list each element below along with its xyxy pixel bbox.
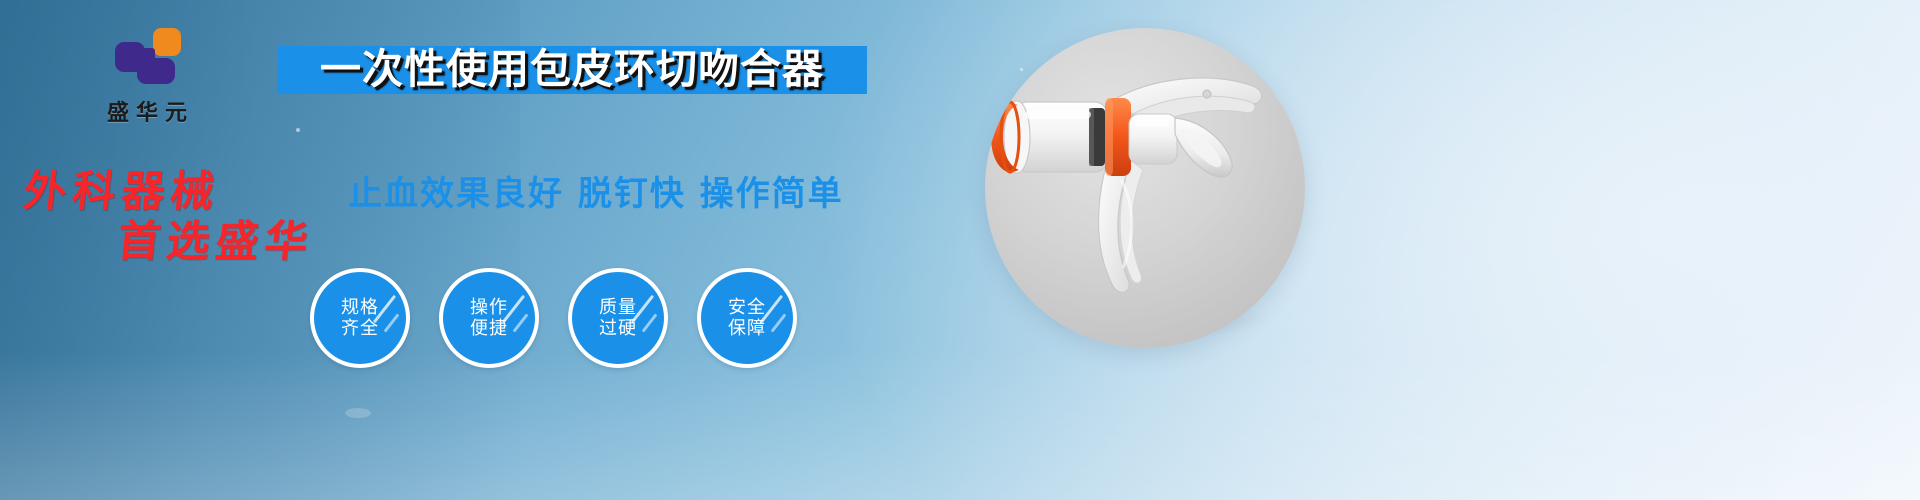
feature-badge[interactable]: 操作 便捷 xyxy=(439,268,539,368)
slash-decoration-icon xyxy=(771,313,787,332)
feature-badge-line2: 齐全 xyxy=(341,318,379,339)
slogan-line-2: 首选盛华 xyxy=(115,207,318,269)
feature-badge-line1: 操作 xyxy=(470,297,508,318)
logo-mark-icon xyxy=(115,28,187,90)
decorative-dot xyxy=(296,128,300,132)
feature-badge[interactable]: 安全 保障 xyxy=(697,268,797,368)
background-bottom-glow xyxy=(0,350,1920,500)
feature-badge-line1: 质量 xyxy=(599,297,637,318)
feature-badge[interactable]: 规格 齐全 xyxy=(310,268,410,368)
slash-decoration-icon xyxy=(513,313,529,332)
subheadline-text: 止血效果良好 脱钉快 操作简单 xyxy=(348,166,844,215)
feature-badge-list: 规格 齐全 操作 便捷 质量 过硬 安全 保障 xyxy=(310,268,797,368)
slash-decoration-icon xyxy=(642,313,658,332)
headline-text: 一次性使用包皮环切吻合器 xyxy=(320,49,824,90)
feature-badge-line1: 安全 xyxy=(728,297,766,318)
logo-shape-accent xyxy=(153,28,181,56)
feature-badge-line1: 规格 xyxy=(341,297,379,318)
stapler-illustration-icon xyxy=(985,28,1305,348)
logo-shape-center xyxy=(142,48,155,60)
decorative-dot xyxy=(345,408,371,418)
feature-badge-line2: 过硬 xyxy=(599,318,637,339)
brand-name: 盛华元 xyxy=(63,95,238,127)
logo-shape-bottom xyxy=(137,58,175,84)
product-banner: 盛华元 一次性使用包皮环切吻合器 外科器械 首选盛华 止血效果良好 脱钉快 操作… xyxy=(0,0,1920,500)
slash-decoration-icon xyxy=(384,313,400,332)
feature-badge-line2: 保障 xyxy=(728,318,766,339)
feature-badge[interactable]: 质量 过硬 xyxy=(568,268,668,368)
product-photo xyxy=(985,28,1305,348)
feature-badge-line2: 便捷 xyxy=(470,318,508,339)
headline-bar: 一次性使用包皮环切吻合器 xyxy=(277,46,867,94)
brand-logo: 盛华元 xyxy=(63,28,238,127)
